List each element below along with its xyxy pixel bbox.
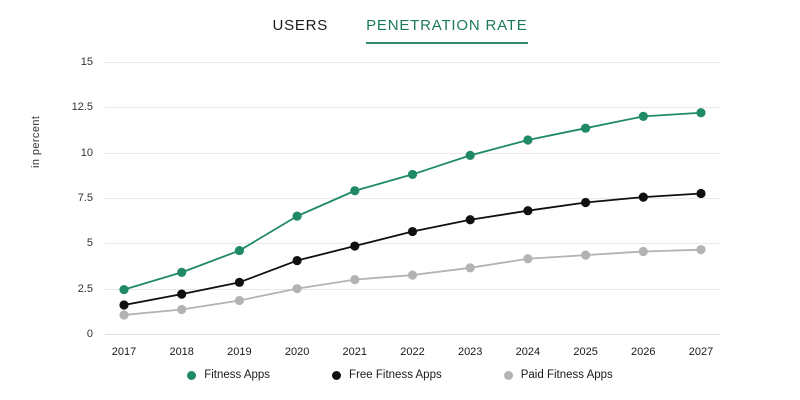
chart-page: USERS PENETRATION RATE in percent 02.557… bbox=[0, 0, 800, 400]
x-axis-tick-label: 2020 bbox=[285, 346, 309, 358]
data-point[interactable] bbox=[350, 241, 359, 250]
data-point[interactable] bbox=[581, 198, 590, 207]
legend-item-paid-fitness-apps[interactable]: Paid Fitness Apps bbox=[504, 369, 613, 381]
data-point[interactable] bbox=[293, 256, 302, 265]
series-line bbox=[124, 250, 701, 315]
data-point[interactable] bbox=[466, 151, 475, 160]
data-point[interactable] bbox=[696, 108, 705, 117]
data-point[interactable] bbox=[639, 247, 648, 256]
x-axis-tick-label: 2022 bbox=[400, 346, 424, 358]
legend-label: Fitness Apps bbox=[204, 369, 270, 381]
x-axis-tick-label: 2021 bbox=[343, 346, 367, 358]
data-point[interactable] bbox=[119, 310, 128, 319]
data-point[interactable] bbox=[293, 212, 302, 221]
data-point[interactable] bbox=[581, 124, 590, 133]
y-axis-title: in percent bbox=[30, 152, 42, 168]
series-plot bbox=[105, 62, 720, 334]
y-axis-tick-label: 7.5 bbox=[53, 192, 93, 204]
legend-label: Free Fitness Apps bbox=[349, 369, 442, 381]
legend-swatch-icon bbox=[332, 371, 341, 380]
tab-bar: USERS PENETRATION RATE bbox=[0, 17, 800, 44]
data-point[interactable] bbox=[639, 112, 648, 121]
y-axis-tick-label: 5 bbox=[53, 237, 93, 249]
data-point[interactable] bbox=[696, 245, 705, 254]
data-point[interactable] bbox=[639, 192, 648, 201]
x-axis-tick-label: 2026 bbox=[631, 346, 655, 358]
x-axis-tick-label: 2017 bbox=[112, 346, 136, 358]
x-axis-tick-label: 2023 bbox=[458, 346, 482, 358]
data-point[interactable] bbox=[408, 170, 417, 179]
data-point[interactable] bbox=[466, 215, 475, 224]
data-point[interactable] bbox=[523, 206, 532, 215]
plot-area: 02.557.51012.515 20172018201920202021202… bbox=[105, 62, 720, 334]
x-axis-tick-label: 2018 bbox=[169, 346, 193, 358]
data-point[interactable] bbox=[350, 275, 359, 284]
y-axis-tick-label: 0 bbox=[53, 328, 93, 340]
legend-swatch-icon bbox=[187, 371, 196, 380]
y-axis-tick-label: 2.5 bbox=[53, 283, 93, 295]
data-point[interactable] bbox=[523, 254, 532, 263]
x-axis-tick-label: 2019 bbox=[227, 346, 251, 358]
data-point[interactable] bbox=[119, 300, 128, 309]
series-line bbox=[124, 193, 701, 305]
data-point[interactable] bbox=[408, 270, 417, 279]
y-axis-tick-label: 12.5 bbox=[53, 101, 93, 113]
data-point[interactable] bbox=[177, 268, 186, 277]
series-line bbox=[124, 113, 701, 290]
tab-penetration-rate[interactable]: PENETRATION RATE bbox=[366, 17, 527, 44]
legend-swatch-icon bbox=[504, 371, 513, 380]
tab-users-label: USERS bbox=[272, 17, 328, 34]
data-point[interactable] bbox=[350, 186, 359, 195]
gridline bbox=[105, 334, 720, 335]
legend-item-fitness-apps[interactable]: Fitness Apps bbox=[187, 369, 270, 381]
data-point[interactable] bbox=[523, 135, 532, 144]
tab-users[interactable]: USERS bbox=[272, 17, 328, 44]
data-point[interactable] bbox=[581, 251, 590, 260]
legend-item-free-fitness-apps[interactable]: Free Fitness Apps bbox=[332, 369, 442, 381]
data-point[interactable] bbox=[696, 189, 705, 198]
data-point[interactable] bbox=[177, 290, 186, 299]
legend: Fitness AppsFree Fitness AppsPaid Fitnes… bbox=[0, 369, 800, 381]
data-point[interactable] bbox=[235, 296, 244, 305]
legend-label: Paid Fitness Apps bbox=[521, 369, 613, 381]
series-fitness-apps bbox=[119, 108, 705, 294]
data-point[interactable] bbox=[119, 285, 128, 294]
series-free-fitness-apps bbox=[119, 189, 705, 310]
x-axis-tick-label: 2024 bbox=[516, 346, 540, 358]
data-point[interactable] bbox=[466, 263, 475, 272]
y-axis-tick-label: 10 bbox=[53, 147, 93, 159]
x-axis-tick-label: 2027 bbox=[689, 346, 713, 358]
data-point[interactable] bbox=[235, 246, 244, 255]
data-point[interactable] bbox=[177, 305, 186, 314]
data-point[interactable] bbox=[408, 227, 417, 236]
data-point[interactable] bbox=[235, 278, 244, 287]
x-axis-tick-label: 2025 bbox=[573, 346, 597, 358]
series-paid-fitness-apps bbox=[119, 245, 705, 319]
data-point[interactable] bbox=[293, 284, 302, 293]
y-axis-tick-label: 15 bbox=[53, 56, 93, 68]
tab-penetration-rate-label: PENETRATION RATE bbox=[366, 17, 527, 34]
